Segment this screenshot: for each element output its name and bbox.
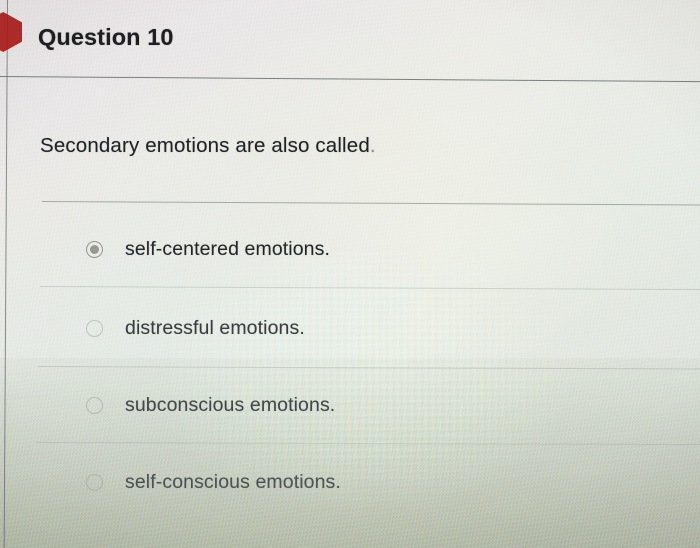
radio-selected-icon[interactable] [86,241,103,258]
answer-option-3[interactable]: subconscious emotions. [86,394,335,417]
answer-options-list: self-centered emotions. distressful emot… [0,0,700,548]
answer-option-4-label[interactable]: self-conscious emotions. [125,471,341,494]
answer-option-2-label[interactable]: distressful emotions. [125,317,305,340]
answer-option-4[interactable]: self-conscious emotions. [86,471,341,494]
radio-unselected-icon[interactable] [86,320,103,337]
quiz-question-screenshot: Question 10 Secondary emotions are also … [0,0,700,548]
answer-divider-2 [40,286,700,290]
answer-option-2[interactable]: distressful emotions. [86,317,305,340]
answer-option-3-label[interactable]: subconscious emotions. [125,394,335,417]
answer-option-1-label[interactable]: self-centered emotions. [125,238,330,261]
answer-divider-1 [42,201,700,205]
radio-unselected-icon[interactable] [86,474,103,491]
answer-divider-4 [36,442,700,445]
radio-unselected-icon[interactable] [86,397,103,414]
answer-option-1[interactable]: self-centered emotions. [86,238,330,261]
answer-divider-3 [38,366,700,370]
